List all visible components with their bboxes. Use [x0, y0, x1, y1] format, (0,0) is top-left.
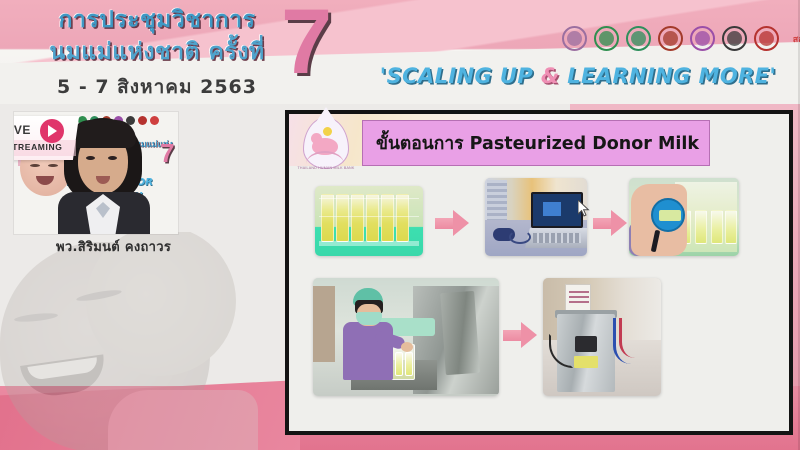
- conference-title-line1: การประชุมวิชาการ: [59, 7, 256, 33]
- tagline-suffix: LEARNING MORE': [560, 64, 777, 88]
- slide-header: THAILAND HUMAN MILK BANK ขั้นตอนการ Past…: [289, 114, 789, 176]
- health-ministry-logo: [626, 26, 651, 51]
- flow-arrow-2: [593, 210, 627, 236]
- screen-capture-stage: การประชุมวิชาการ นมแม่แห่งชาติ ครั้งที่ …: [0, 0, 800, 450]
- slide-title: ขั้นตอนการ Pasteurized Donor Milk: [376, 129, 699, 157]
- live-badge-label: IVE: [14, 123, 31, 137]
- streaming-label: STREAMING: [14, 142, 62, 152]
- sponsor-logo-row: สสส: [562, 26, 800, 51]
- royal-crown-logo: [658, 26, 683, 51]
- conference-date: 5 - 7 สิงหาคม 2563: [22, 72, 292, 102]
- background-child-watermark: [0, 232, 280, 450]
- conference-title-line2: นมแม่แห่งชาติ ครั้งที่: [22, 36, 292, 68]
- webcam-video-pip[interactable]: การประชุมวิชาการ นมแม่แห่งชาติ ครั้งที่ …: [14, 112, 178, 234]
- stainless-steel-cooling-unit-photo: [543, 278, 661, 396]
- speaker-name: พว.สิริมนต์ คงถาวร: [56, 236, 266, 257]
- digital-thermometer-hand-photo: [629, 178, 739, 256]
- green-circle-logo: [594, 26, 619, 51]
- black-circle-logo: [722, 26, 747, 51]
- slide-title-box: ขั้นตอนการ Pasteurized Donor Milk: [362, 120, 710, 166]
- tagline-prefix: 'SCALING UP: [380, 64, 541, 88]
- play-triangle-icon: [48, 125, 57, 137]
- milk-bottles-rack-photo: [315, 186, 423, 256]
- human-milk-bank-droplet-logo: THAILAND HUMAN MILK BANK: [295, 116, 357, 178]
- multicolor-emblem-logo: [690, 26, 715, 51]
- conference-banner: การประชุมวิชาการ นมแม่แห่งชาติ ครั้งที่ …: [0, 0, 800, 104]
- live-streaming-badge: IVE STREAMING: [14, 116, 79, 160]
- flow-arrow-3: [503, 322, 537, 348]
- red-seal-logo: [754, 26, 779, 51]
- nurse-loading-pasteurizer-photo: [313, 278, 499, 396]
- logo-caption: THAILAND HUMAN MILK BANK: [295, 166, 357, 170]
- laptop-workstation-photo: [485, 178, 587, 256]
- presentation-slide-panel[interactable]: THAILAND HUMAN MILK BANK ขั้นตอนการ Past…: [285, 110, 793, 435]
- conference-tagline: 'SCALING UP & LEARNING MORE': [360, 64, 796, 88]
- royal-emblem-logo: [562, 26, 587, 51]
- pip-backdrop-number: 7: [160, 138, 174, 169]
- flow-arrow-1: [435, 210, 469, 236]
- conference-title: การประชุมวิชาการ นมแม่แห่งชาติ ครั้งที่: [22, 4, 292, 68]
- mouse-pointer: [578, 200, 590, 218]
- tagline-ampersand: &: [541, 64, 560, 88]
